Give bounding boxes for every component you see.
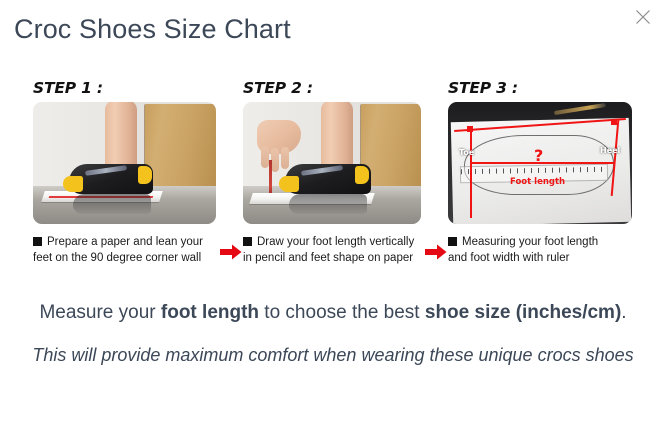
footer-text: Measure your foot length to choose the b… — [0, 300, 666, 370]
step-1-caption-line-1: Prepare a paper and lean your — [47, 236, 203, 248]
step-3-caption-line-2: and foot width with ruler — [448, 250, 632, 266]
arrow-right-icon — [425, 244, 447, 260]
page-title: Croc Shoes Size Chart — [14, 12, 291, 46]
red-corner-marker — [611, 119, 617, 125]
footer-line-2: This will provide maximum comfort when w… — [0, 340, 666, 370]
steps-strip: STEP 1 : Prepare a paper and lean your f… — [0, 78, 666, 293]
footer-line1-part2: to choose the best — [259, 302, 425, 323]
step-1-caption: Prepare a paper and lean your feet on th… — [33, 234, 216, 266]
step-2-image — [243, 102, 421, 224]
size-chart-modal: Croc Shoes Size Chart STEP 1 : — [0, 0, 666, 432]
close-button[interactable] — [630, 4, 656, 30]
step-1-image — [33, 102, 216, 224]
cardboard-box — [145, 104, 216, 192]
footer-line1-part1: Measure your — [39, 302, 160, 323]
arrow-right-icon — [220, 244, 242, 260]
bullet-icon — [448, 237, 457, 246]
footer-line1-bold2: shoe size (inches/cm) — [425, 302, 621, 323]
step-3-caption: Measuring your foot length and foot widt… — [448, 234, 632, 266]
shoe-toe-cap — [279, 176, 299, 192]
step-1-label: STEP 1 : — [33, 78, 216, 102]
red-vertical-toe-line — [470, 126, 472, 218]
step-2-caption-line-2: in pencil and feet shape on paper — [243, 250, 421, 266]
footer-line-1: Measure your foot length to choose the b… — [0, 300, 666, 326]
step-1: STEP 1 : Prepare a paper and lean your f… — [33, 78, 216, 266]
bullet-icon — [33, 237, 42, 246]
bullet-icon — [243, 237, 252, 246]
step-3-image: Toe Heel ? Foot length — [448, 102, 632, 224]
leg — [105, 102, 137, 170]
shoe-reflection — [73, 194, 151, 214]
footer-line1-bold1: foot length — [161, 302, 259, 323]
heel-label: Heel — [600, 146, 620, 155]
step-3-label: STEP 3 : — [448, 78, 632, 102]
ruler-ticks — [461, 167, 607, 175]
step-2-label: STEP 2 : — [243, 78, 421, 102]
finger — [271, 148, 279, 172]
red-corner-marker — [467, 126, 473, 132]
shoe-heel-cap — [355, 166, 369, 184]
finger — [261, 146, 269, 168]
step-2-caption: Draw your foot length vertically in penc… — [243, 234, 421, 266]
step-1-caption-line-2: feet on the 90 degree corner wall — [33, 250, 216, 266]
close-icon — [635, 9, 651, 25]
step-3: STEP 3 : Toe Heel ? Foot lengt — [448, 78, 632, 266]
shoe-reflection — [289, 194, 367, 214]
leg — [321, 102, 353, 168]
question-mark-label: ? — [534, 148, 543, 164]
foot-length-label: Foot length — [510, 177, 565, 187]
shoe-toe-cap — [63, 176, 83, 192]
step-2-caption-line-1: Draw your foot length vertically — [257, 236, 414, 248]
step-2: STEP 2 : Draw your foot l — [243, 78, 421, 266]
footer-line1-part3: . — [621, 302, 626, 323]
step-3-caption-line-1: Measuring your foot length — [462, 236, 598, 248]
shoe-heel-cap — [138, 166, 152, 184]
finger — [281, 147, 289, 169]
toe-label: Toe — [459, 148, 474, 157]
